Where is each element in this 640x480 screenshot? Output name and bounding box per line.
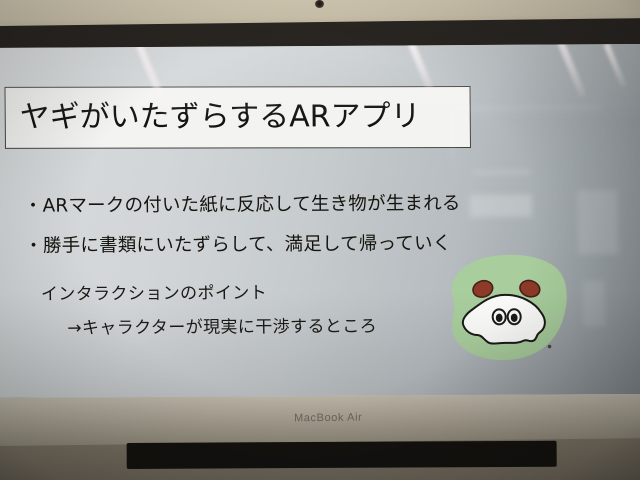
slide-title: ヤギがいたずらするARアプリ — [6, 102, 421, 133]
section-heading: インタラクションのポイント — [41, 278, 377, 305]
photograph-of-laptop: MacBook Air ヤギがいたずらするARアプリ ・ARマークの付いた紙に反… — [0, 0, 640, 480]
section-detail: →キャラクターが現実に干渉するところ — [67, 312, 377, 339]
laptop-screen[interactable]: ヤギがいたずらするARアプリ ・ARマークの付いた紙に反応して生き物が生まれる … — [0, 44, 640, 398]
goat-character-illustration — [434, 250, 575, 369]
slide-section: インタラクションのポイント →キャラクターが現実に干渉するところ — [41, 278, 377, 339]
ceiling-fixture-dot — [315, 0, 324, 8]
slide-title-box: ヤギがいたずらするARアプリ — [4, 86, 471, 149]
laptop-hinge — [127, 441, 557, 469]
bullet-item: ・ARマークの付いた紙に反応して生き物が生まれる — [24, 189, 544, 218]
